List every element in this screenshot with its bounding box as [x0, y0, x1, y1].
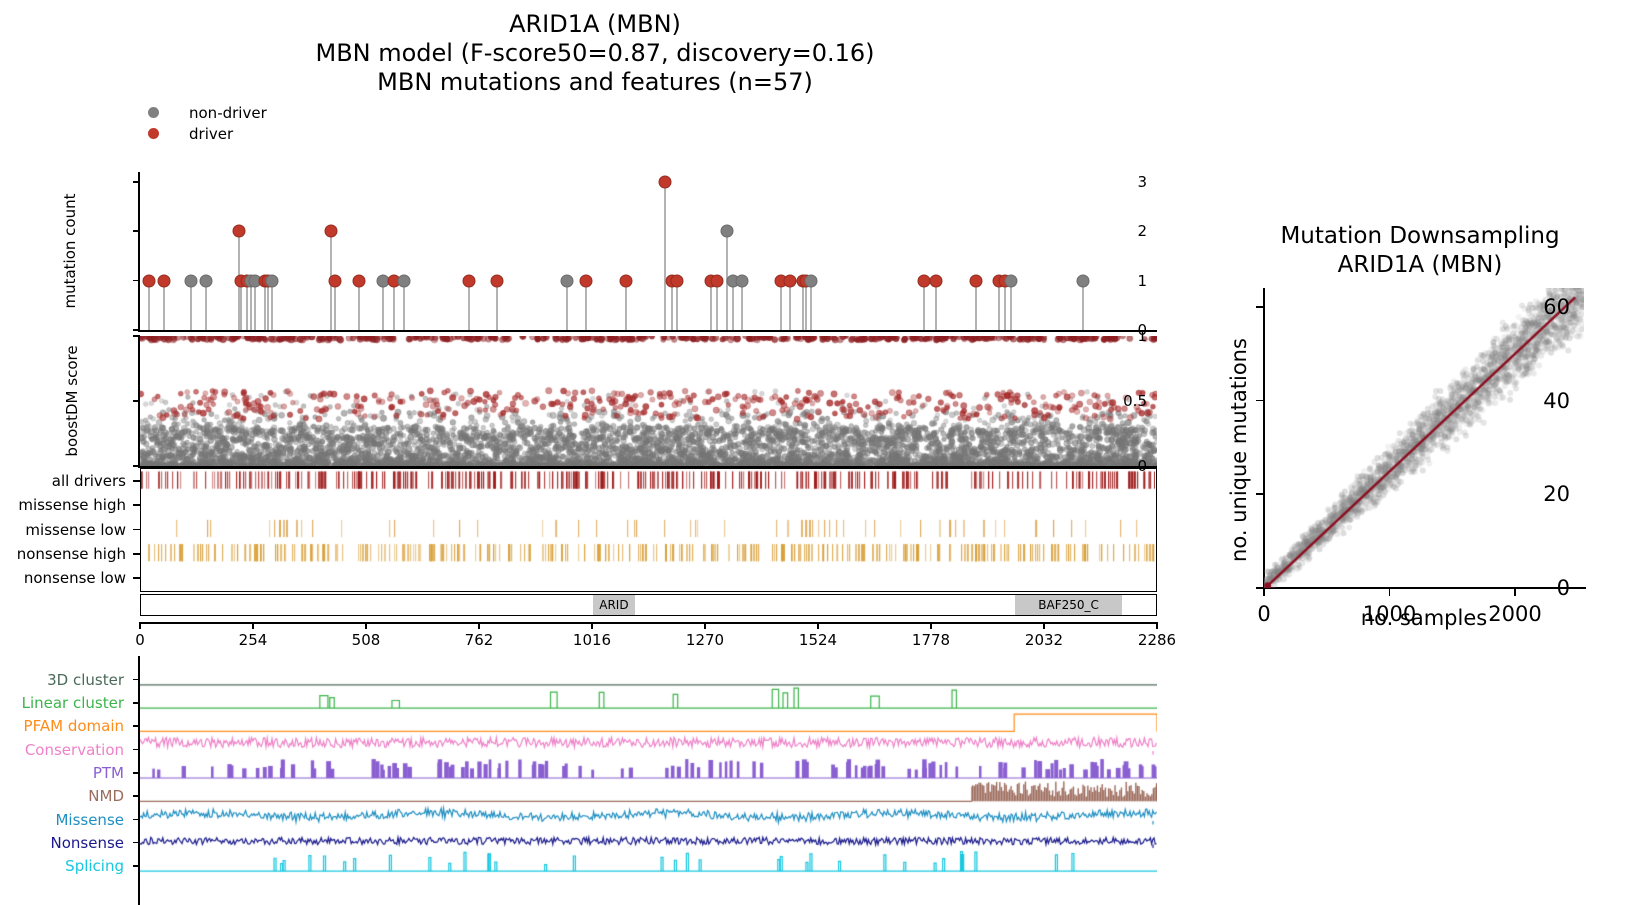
x-tick-label: 0	[135, 631, 145, 649]
lollipop-marker-driver[interactable]	[930, 274, 943, 287]
y-tick	[133, 465, 140, 467]
track-tick	[133, 529, 140, 531]
lollipop-stem	[163, 281, 165, 330]
lollipop-stem	[566, 281, 568, 330]
legend-item-label: driver	[189, 125, 233, 143]
y-tick-label: 1	[1137, 272, 1147, 290]
y-tick	[1256, 493, 1264, 495]
lollipop-marker-non-driver[interactable]	[1077, 274, 1090, 287]
lollipop-marker-driver[interactable]	[352, 274, 365, 287]
y-tick	[133, 230, 140, 232]
driver-track-label: nonsense high	[17, 545, 126, 563]
downsampling-panel: 0204060 010002000 no. unique mutations n…	[1264, 288, 1584, 588]
x-tick-label: 1524	[799, 631, 837, 649]
lollipop-marker-driver[interactable]	[579, 274, 592, 287]
lollipop-marker-driver[interactable]	[463, 274, 476, 287]
x-tick	[704, 622, 706, 629]
lollipop-marker-non-driver[interactable]	[185, 274, 198, 287]
legend-item-driver[interactable]: driver	[148, 123, 267, 144]
lollipop-marker-driver[interactable]	[158, 274, 171, 287]
lollipop-stem	[334, 281, 336, 330]
x-tick	[1043, 622, 1045, 629]
lollipop-stem	[246, 281, 248, 330]
y-tick-label: 0	[1557, 576, 1570, 600]
lollipop-marker-driver[interactable]	[328, 274, 341, 287]
lollipop-stem	[998, 281, 1000, 330]
feature-track-label-nmd: NMD	[88, 787, 124, 805]
lollipop-stem	[780, 281, 782, 330]
protein-domain-baf250_c[interactable]: BAF250_C	[1015, 595, 1122, 615]
x-tick	[930, 622, 932, 629]
lollipop-stem	[264, 281, 266, 330]
axis-line	[140, 622, 1157, 624]
lollipop-marker-non-driver[interactable]	[721, 225, 734, 238]
feature-track-label-missense: Missense	[55, 811, 124, 829]
lollipop-stem	[254, 281, 256, 330]
x-tick	[817, 622, 819, 629]
mutation-count-axis-title: mutation count	[61, 171, 79, 331]
lollipop-stem	[664, 182, 666, 330]
x-tick	[365, 622, 367, 629]
legend: non-driver driver	[148, 102, 267, 144]
x-tick-label: 1778	[912, 631, 950, 649]
lollipop-stem	[1004, 281, 1006, 330]
x-tick	[591, 622, 593, 629]
gene-position-axis: 0254508762101612701524177820322286	[140, 622, 1157, 652]
boostdm-scatter-canvas	[140, 336, 1157, 466]
downsampling-y-axis-title: no. unique mutations	[1227, 320, 1251, 580]
boostdm-score-panel: 00.51 boostDM score	[140, 336, 1157, 466]
feature-track-tick	[133, 795, 139, 797]
feature-track-tick	[133, 842, 139, 844]
legend-item-label: non-driver	[189, 104, 267, 122]
lollipop-stem	[671, 281, 673, 330]
circle-marker-icon	[148, 128, 159, 139]
downsampling-x-axis-title: no. samples	[1264, 606, 1584, 630]
circle-marker-icon	[148, 107, 159, 118]
driver-tracks-canvas	[141, 469, 1155, 590]
lollipop-stem	[741, 281, 743, 330]
lollipop-stem	[1010, 281, 1012, 330]
page-title: ARID1A (MBN) MBN model (F-score50=0.87, …	[0, 10, 1190, 97]
x-tick-label: 508	[352, 631, 381, 649]
y-tick	[133, 400, 140, 402]
x-tick-label: 254	[239, 631, 268, 649]
lollipop-stem	[716, 281, 718, 330]
lollipop-marker-driver[interactable]	[325, 225, 338, 238]
y-tick-label: 60	[1543, 295, 1570, 319]
x-tick	[1389, 588, 1391, 596]
y-tick-label: 1	[1137, 327, 1147, 345]
lollipop-stem	[805, 281, 807, 330]
lollipop-stem	[267, 281, 269, 330]
track-tick	[133, 553, 140, 555]
feature-track-label-3d-cluster: 3D cluster	[47, 671, 124, 689]
lollipop-stem	[382, 281, 384, 330]
lollipop-marker-driver[interactable]	[710, 274, 723, 287]
lollipop-marker-non-driver[interactable]	[561, 274, 574, 287]
lollipop-stem	[810, 281, 812, 330]
driver-track-label: missense low	[25, 521, 126, 539]
lollipop-stem	[190, 281, 192, 330]
boostdm-axis-title: boostDM score	[63, 321, 81, 481]
feature-track-label-linear-cluster: Linear cluster	[22, 694, 124, 712]
lollipop-marker-non-driver[interactable]	[266, 274, 279, 287]
feature-track-tick	[133, 772, 139, 774]
lollipop-marker-driver[interactable]	[491, 274, 504, 287]
driver-track-label: missense high	[18, 496, 126, 514]
feature-track-tick	[133, 679, 139, 681]
x-tick	[252, 622, 254, 629]
lollipop-stem	[358, 281, 360, 330]
x-tick	[1156, 622, 1158, 629]
lollipop-marker-non-driver[interactable]	[1005, 274, 1018, 287]
y-tick	[133, 280, 140, 282]
lollipop-stem	[676, 281, 678, 330]
lollipop-stem	[732, 281, 734, 330]
feature-track-label-splicing: Splicing	[65, 857, 124, 875]
x-tick-label: 2286	[1138, 631, 1176, 649]
lollipop-axis-bottom	[138, 330, 1157, 332]
driver-track-label: nonsense low	[24, 569, 126, 587]
lollipop-stem	[935, 281, 937, 330]
track-tick	[133, 577, 140, 579]
y-tick	[1256, 306, 1264, 308]
y-tick-label: 2	[1137, 222, 1147, 240]
lollipop-stem	[789, 281, 791, 330]
downsampling-scatter-canvas	[1264, 288, 1584, 588]
x-tick-label: 1270	[686, 631, 724, 649]
lollipop-marker-driver[interactable]	[620, 274, 633, 287]
y-tick-label: 0.5	[1123, 392, 1147, 410]
feature-track-tick	[133, 749, 139, 751]
y-tick	[133, 329, 140, 331]
boostdm-gene-report: ARID1A (MBN) MBN model (F-score50=0.87, …	[0, 0, 1637, 905]
lollipop-stem	[710, 281, 712, 330]
y-tick	[133, 335, 140, 337]
lollipop-stem	[271, 281, 273, 330]
protein-domain-bar: ARIDBAF250_C	[140, 594, 1157, 616]
track-tick	[133, 504, 140, 506]
lollipop-stem	[205, 281, 207, 330]
x-tick	[1263, 588, 1265, 596]
x-tick	[478, 622, 480, 629]
y-tick-label: 20	[1543, 482, 1570, 506]
feature-tracks-canvas	[140, 656, 1157, 905]
x-tick-label: 762	[465, 631, 494, 649]
lollipop-stem	[393, 281, 395, 330]
driver-track-label: all drivers	[52, 472, 126, 490]
legend-item-non-driver[interactable]: non-driver	[148, 102, 267, 123]
mutation-count-panel: 0123 mutation count	[140, 172, 1157, 330]
driver-tracks-panel: all driversmissense highmissense lownons…	[140, 468, 1157, 592]
lollipop-stem	[403, 281, 405, 330]
lollipop-marker-driver[interactable]	[970, 274, 983, 287]
x-tick	[1514, 588, 1516, 596]
feature-track-tick	[133, 702, 139, 704]
lollipop-marker-driver[interactable]	[142, 274, 155, 287]
feature-track-label-ptm: PTM	[93, 764, 124, 782]
lollipop-marker-non-driver[interactable]	[804, 274, 817, 287]
lollipop-stem	[802, 281, 804, 330]
lollipop-stem	[496, 281, 498, 330]
feature-track-label-nonsense: Nonsense	[51, 834, 125, 852]
feature-track-label-pfam-domain: PFAM domain	[24, 717, 124, 735]
feature-track-tick	[133, 725, 139, 727]
lollipop-stem	[148, 281, 150, 330]
lollipop-marker-driver[interactable]	[917, 274, 930, 287]
lollipop-marker-non-driver[interactable]	[736, 274, 749, 287]
lollipop-stem	[250, 281, 252, 330]
lollipop-marker-driver[interactable]	[658, 175, 671, 188]
lollipop-marker-non-driver[interactable]	[199, 274, 212, 287]
y-tick-label: 40	[1543, 389, 1570, 413]
lollipop-stem	[975, 281, 977, 330]
feature-track-labels: 3D clusterLinear clusterPFAM domainConse…	[0, 656, 132, 905]
protein-domain-arid[interactable]: ARID	[593, 595, 635, 615]
y-tick	[133, 181, 140, 183]
feature-track-label-conservation: Conservation	[25, 741, 124, 759]
lollipop-stem	[585, 281, 587, 330]
lollipop-stem	[468, 281, 470, 330]
track-tick	[133, 480, 140, 482]
lollipop-stem	[923, 281, 925, 330]
feature-tracks-panel	[140, 656, 1157, 905]
feature-track-tick	[133, 865, 139, 867]
lollipop-marker-driver[interactable]	[670, 274, 683, 287]
y-tick-label: 3	[1137, 173, 1147, 191]
x-tick	[139, 622, 141, 629]
x-tick-label: 1016	[573, 631, 611, 649]
lollipop-marker-driver[interactable]	[232, 225, 245, 238]
lollipop-stem	[240, 281, 242, 330]
lollipop-stem	[1082, 281, 1084, 330]
lollipop-marker-driver[interactable]	[784, 274, 797, 287]
downsampling-title: Mutation Downsampling ARID1A (MBN)	[1210, 222, 1630, 280]
y-tick	[1256, 400, 1264, 402]
lollipop-marker-non-driver[interactable]	[398, 274, 411, 287]
lollipop-axis-left	[138, 172, 140, 330]
feature-track-tick	[133, 819, 139, 821]
lollipop-stem	[625, 281, 627, 330]
x-tick-label: 2032	[1025, 631, 1063, 649]
